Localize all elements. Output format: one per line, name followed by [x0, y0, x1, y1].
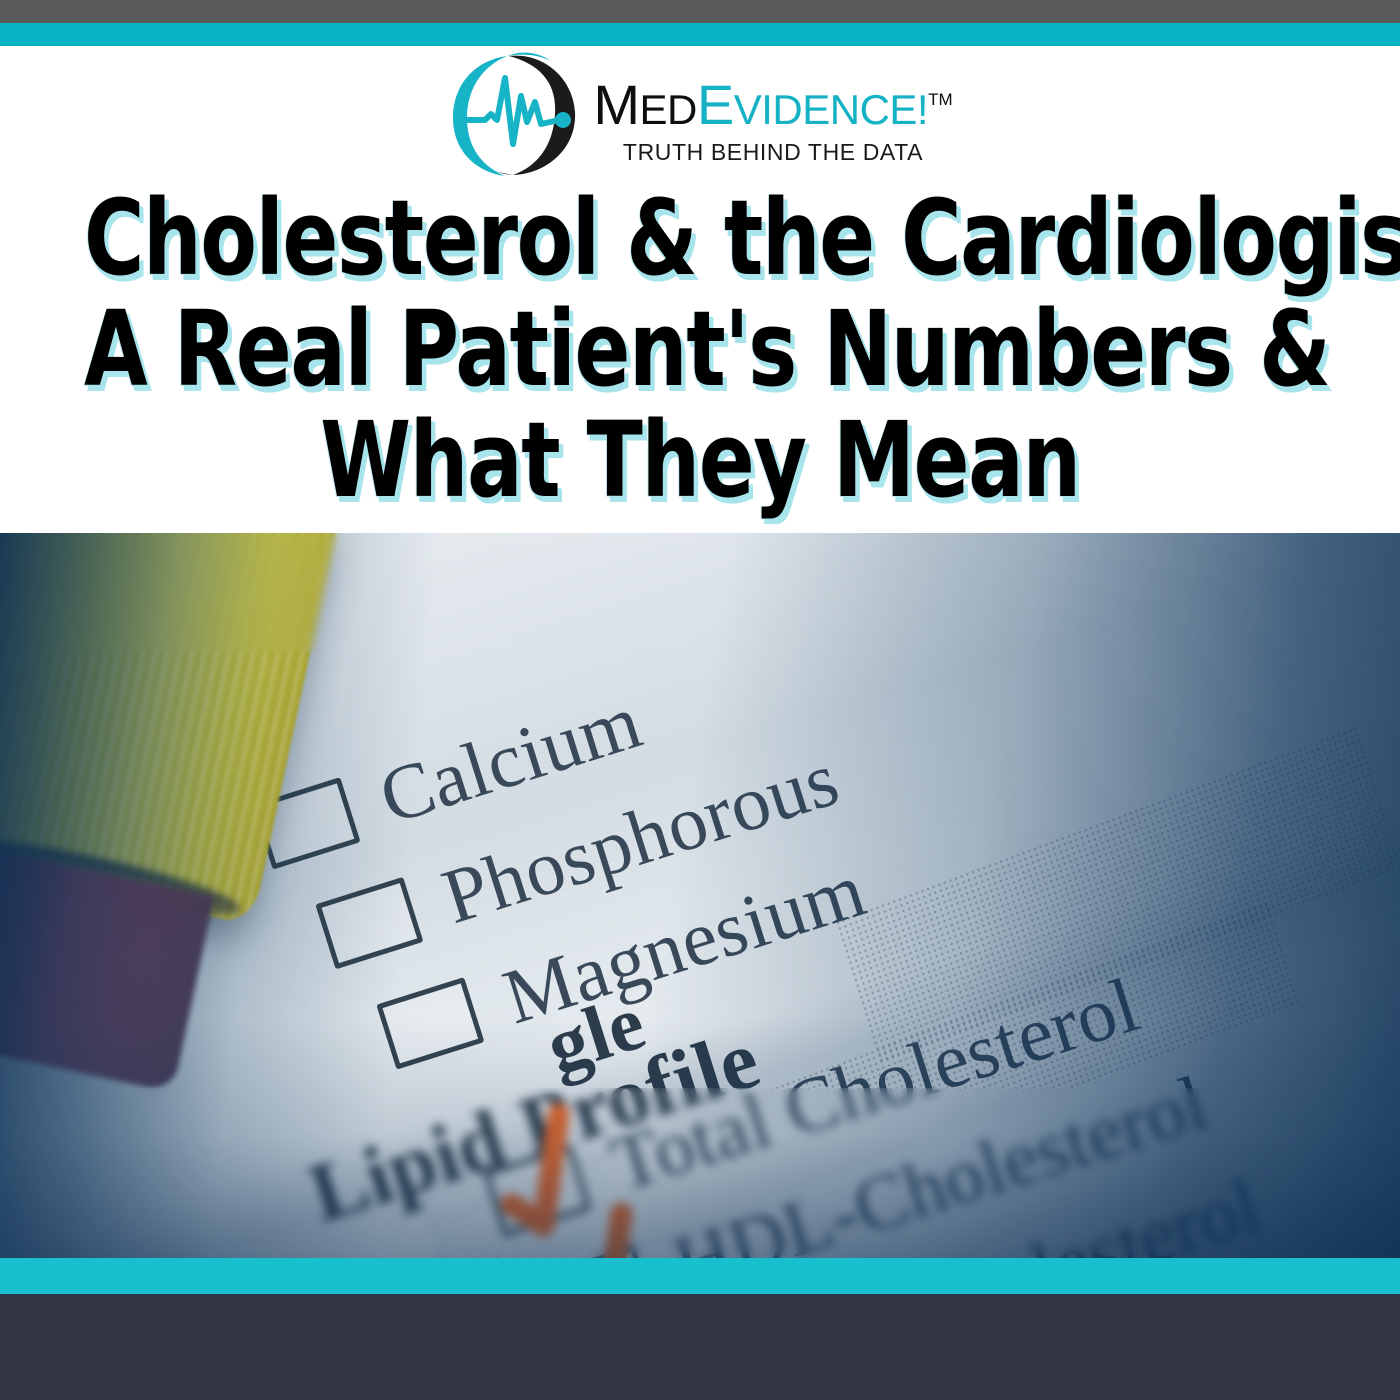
wordmark-e: E: [697, 73, 734, 136]
episode-title: Cholesterol & the Cardiologist: A Real P…: [0, 183, 1400, 516]
cover-photo: Calcium Phosphorous Magnesium Lipid Prof…: [0, 533, 1400, 1258]
wordmark-m: M: [593, 73, 639, 136]
title-line-3: What They Mean: [84, 405, 1316, 516]
ecg-circle-icon: [447, 48, 587, 180]
wordmark-ed: ED: [640, 86, 697, 133]
brand-tagline: TRUTH BEHIND THE DATA: [623, 139, 923, 166]
bottom-dark-bar: [0, 1294, 1400, 1400]
title-line-2: A Real Patient's Numbers &: [84, 294, 1316, 405]
bottom-teal-bar: [0, 1258, 1400, 1294]
podcast-cover: MEDEVIDENCE!TM TRUTH BEHIND THE DATA Cho…: [0, 0, 1400, 1400]
photo-vignette-bottom: [0, 1018, 1400, 1258]
top-teal-bar: [0, 23, 1400, 46]
title-line-1: Cholesterol & the Cardiologist:: [84, 183, 1316, 294]
wordmark-vidence: VIDENCE!: [734, 86, 928, 133]
brand-wordmark: MEDEVIDENCE!TM: [593, 77, 952, 133]
top-gray-bar: [0, 0, 1400, 23]
brand-logo-lockup: MEDEVIDENCE!TM TRUTH BEHIND THE DATA: [0, 48, 1400, 180]
trademark-symbol: TM: [928, 90, 953, 109]
